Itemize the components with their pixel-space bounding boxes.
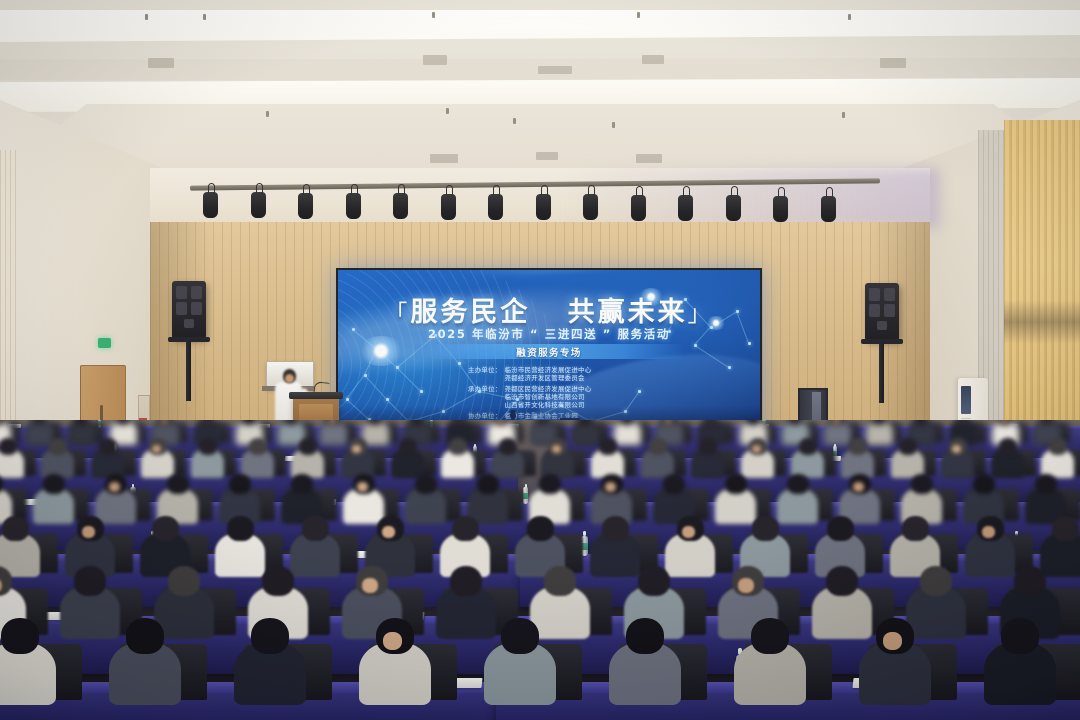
attendee-head <box>1014 566 1046 596</box>
attendee-face <box>82 526 95 538</box>
ceiling-vent <box>636 154 662 163</box>
attendee-face <box>152 445 161 453</box>
stage-par-light <box>678 195 693 221</box>
attendee-head <box>539 474 561 494</box>
speaker-driver <box>176 302 187 315</box>
attendee-head <box>849 438 867 455</box>
water-bottle <box>523 487 528 504</box>
sprinkler-head <box>432 12 435 18</box>
screen-subtitle: 2025 年临汾市 “ 三进四送 ” 服务活动 <box>338 326 760 342</box>
bracket-close: 」 <box>688 301 714 327</box>
ceiling-vent <box>538 66 572 74</box>
attendee-head <box>999 438 1017 455</box>
stage-par-light <box>298 193 313 219</box>
speaker-driver <box>884 288 895 301</box>
ceiling-vent <box>642 55 664 64</box>
attendee-head <box>0 438 17 455</box>
attendee-head <box>227 516 254 541</box>
attendee-face <box>952 445 961 453</box>
attendee-head <box>499 438 517 455</box>
organizer-row: 主办单位：临汾市民营经济发展促进中心尧都经济开发区管理委员会 <box>468 366 738 382</box>
speaker-stand-right <box>879 343 884 403</box>
attendee-head <box>449 438 467 455</box>
screen-ribbon-label: 融资服务专场 <box>415 345 683 359</box>
attendee-head <box>920 566 952 596</box>
attendee-head <box>302 516 329 541</box>
attendee-head <box>126 618 164 654</box>
attendee-head <box>544 566 576 596</box>
attendee-face <box>752 445 761 453</box>
bottle-label <box>523 493 528 499</box>
stage-par-light <box>773 196 788 222</box>
title-right-phrase: 共赢未来 <box>568 297 688 328</box>
attendee-head <box>638 566 670 596</box>
speaker-driver <box>869 288 880 301</box>
attendee-head <box>602 516 629 541</box>
attendee-head <box>752 516 779 541</box>
attendee-head <box>649 438 667 455</box>
stage-par-light <box>203 192 218 218</box>
sprinkler-head <box>203 14 206 20</box>
attendee-head <box>450 566 482 596</box>
attendee-head <box>49 438 67 455</box>
attendee-head <box>43 474 65 494</box>
attendee-face <box>853 482 864 492</box>
attendee-head <box>1 618 39 654</box>
speaker-driver <box>869 304 880 317</box>
attendee-face <box>362 578 378 593</box>
attendee-head <box>826 566 858 596</box>
attendee-head <box>1052 516 1079 541</box>
attendee-face <box>382 526 395 538</box>
attendee-head <box>74 566 106 596</box>
sprinkler-head <box>637 12 640 18</box>
air-conditioner-display <box>961 386 971 414</box>
attendee-face <box>357 482 368 492</box>
gooseneck-microphone <box>313 381 329 395</box>
organizer-name: 临汾市智创新基地有限公司 <box>504 393 738 401</box>
attendee-head <box>751 618 789 654</box>
sprinkler-head <box>266 111 269 117</box>
attendee-face <box>883 632 902 650</box>
attendee-head <box>501 618 539 654</box>
attendee-head <box>599 438 617 455</box>
attendee-head <box>152 516 179 541</box>
attendee-head <box>415 474 437 494</box>
attendee-head <box>1001 618 1039 654</box>
speaker-driver <box>184 319 194 328</box>
ceiling-vent <box>536 152 558 160</box>
attendee-head <box>663 474 685 494</box>
led-display-screen[interactable]: 「服务民企 共赢未来」 2025 年临汾市 “ 三进四送 ” 服务活动 融资服务… <box>336 268 762 442</box>
stage-par-light <box>393 193 408 219</box>
audience-area <box>0 420 1080 720</box>
attendee-head <box>899 438 917 455</box>
ceiling-vent <box>430 154 458 163</box>
curtain-shadow <box>1004 300 1080 344</box>
line-array-loudspeaker-right <box>865 283 899 341</box>
attendee-head <box>827 516 854 541</box>
organizer-name: 尧都区民营经济发展促进中心 <box>504 385 738 393</box>
attendee-head <box>452 516 479 541</box>
attendee-head <box>251 618 289 654</box>
attendee-face <box>352 445 361 453</box>
screen-main-title: 「服务民企 共赢未来」 <box>338 290 760 329</box>
attendee-head <box>902 516 929 541</box>
attendee-head <box>168 566 200 596</box>
stage-par-light <box>631 195 646 221</box>
ceiling-vent <box>880 58 906 68</box>
speaker-driver <box>191 302 202 315</box>
attendee-head <box>787 474 809 494</box>
attendee-head <box>399 438 417 455</box>
attendee-face <box>738 578 754 593</box>
attendee-head <box>99 438 117 455</box>
presenter-face <box>285 374 294 383</box>
ceiling-vent <box>423 55 447 65</box>
attendee-head <box>725 474 747 494</box>
organizer-names: 临汾市民营经济发展促进中心尧都经济开发区管理委员会 <box>504 366 738 382</box>
bracket-open: 「 <box>384 301 410 327</box>
speaker-driver <box>191 286 202 299</box>
sprinkler-head <box>446 108 449 114</box>
attendee-head <box>626 618 664 654</box>
attendee-head <box>249 438 267 455</box>
line-array-loudspeaker-left <box>172 281 206 339</box>
attendee-head <box>1035 474 1057 494</box>
screen-ribbon-banner: 融资服务专场 <box>415 344 683 359</box>
organizer-name: 尧都经济开发区管理委员会 <box>504 374 738 382</box>
attendee-head <box>973 474 995 494</box>
sprinkler-head <box>848 14 851 20</box>
speaker-driver <box>884 304 895 317</box>
attendee-head <box>199 438 217 455</box>
conference-hall-photo: 「服务民企 共赢未来」 2025 年临汾市 “ 三进四送 ” 服务活动 融资服务… <box>0 0 1080 720</box>
attendee-head <box>229 474 251 494</box>
sprinkler-head <box>513 118 516 124</box>
sprinkler-head <box>842 112 845 118</box>
attendee-head <box>477 474 499 494</box>
attendee-head <box>911 474 933 494</box>
stage-par-light <box>441 194 456 220</box>
speaker-driver <box>877 321 887 330</box>
emergency-exit-sign <box>98 338 111 348</box>
sprinkler-head <box>612 122 615 128</box>
attendee-face <box>552 445 561 453</box>
stage-par-light <box>821 196 836 222</box>
organizer-label: 主办单位： <box>468 366 501 382</box>
sprinkler-head <box>145 14 148 20</box>
attendee-head <box>167 474 189 494</box>
attendee-head <box>527 516 554 541</box>
stage-par-light <box>583 194 598 220</box>
ceiling <box>0 0 1080 172</box>
attendee-face <box>982 526 995 538</box>
title-left-phrase: 服务民企 <box>410 297 530 328</box>
attendee-face <box>109 482 120 492</box>
attendee-face <box>682 526 695 538</box>
ceiling-light-cove-upper <box>0 10 1080 42</box>
attendee-face <box>383 632 402 650</box>
attendee-head <box>299 438 317 455</box>
attendee-head <box>799 438 817 455</box>
ceiling-vent <box>148 58 174 68</box>
stage-par-light <box>488 194 503 220</box>
attendee-head <box>2 516 29 541</box>
attendee-head <box>291 474 313 494</box>
attendee-head <box>699 438 717 455</box>
attendee-head <box>1049 438 1067 455</box>
speaker-stand-left <box>186 341 191 401</box>
stage-par-light <box>251 192 266 218</box>
stage-par-light <box>726 195 741 221</box>
attendee-face <box>605 482 616 492</box>
speaker-driver <box>176 286 187 299</box>
attendee-head <box>262 566 294 596</box>
stage-par-light <box>346 193 361 219</box>
wall-light-wash <box>560 168 940 228</box>
stage-par-light <box>536 194 551 220</box>
organizer-name: 临汾市民营经济发展促进中心 <box>504 366 738 374</box>
